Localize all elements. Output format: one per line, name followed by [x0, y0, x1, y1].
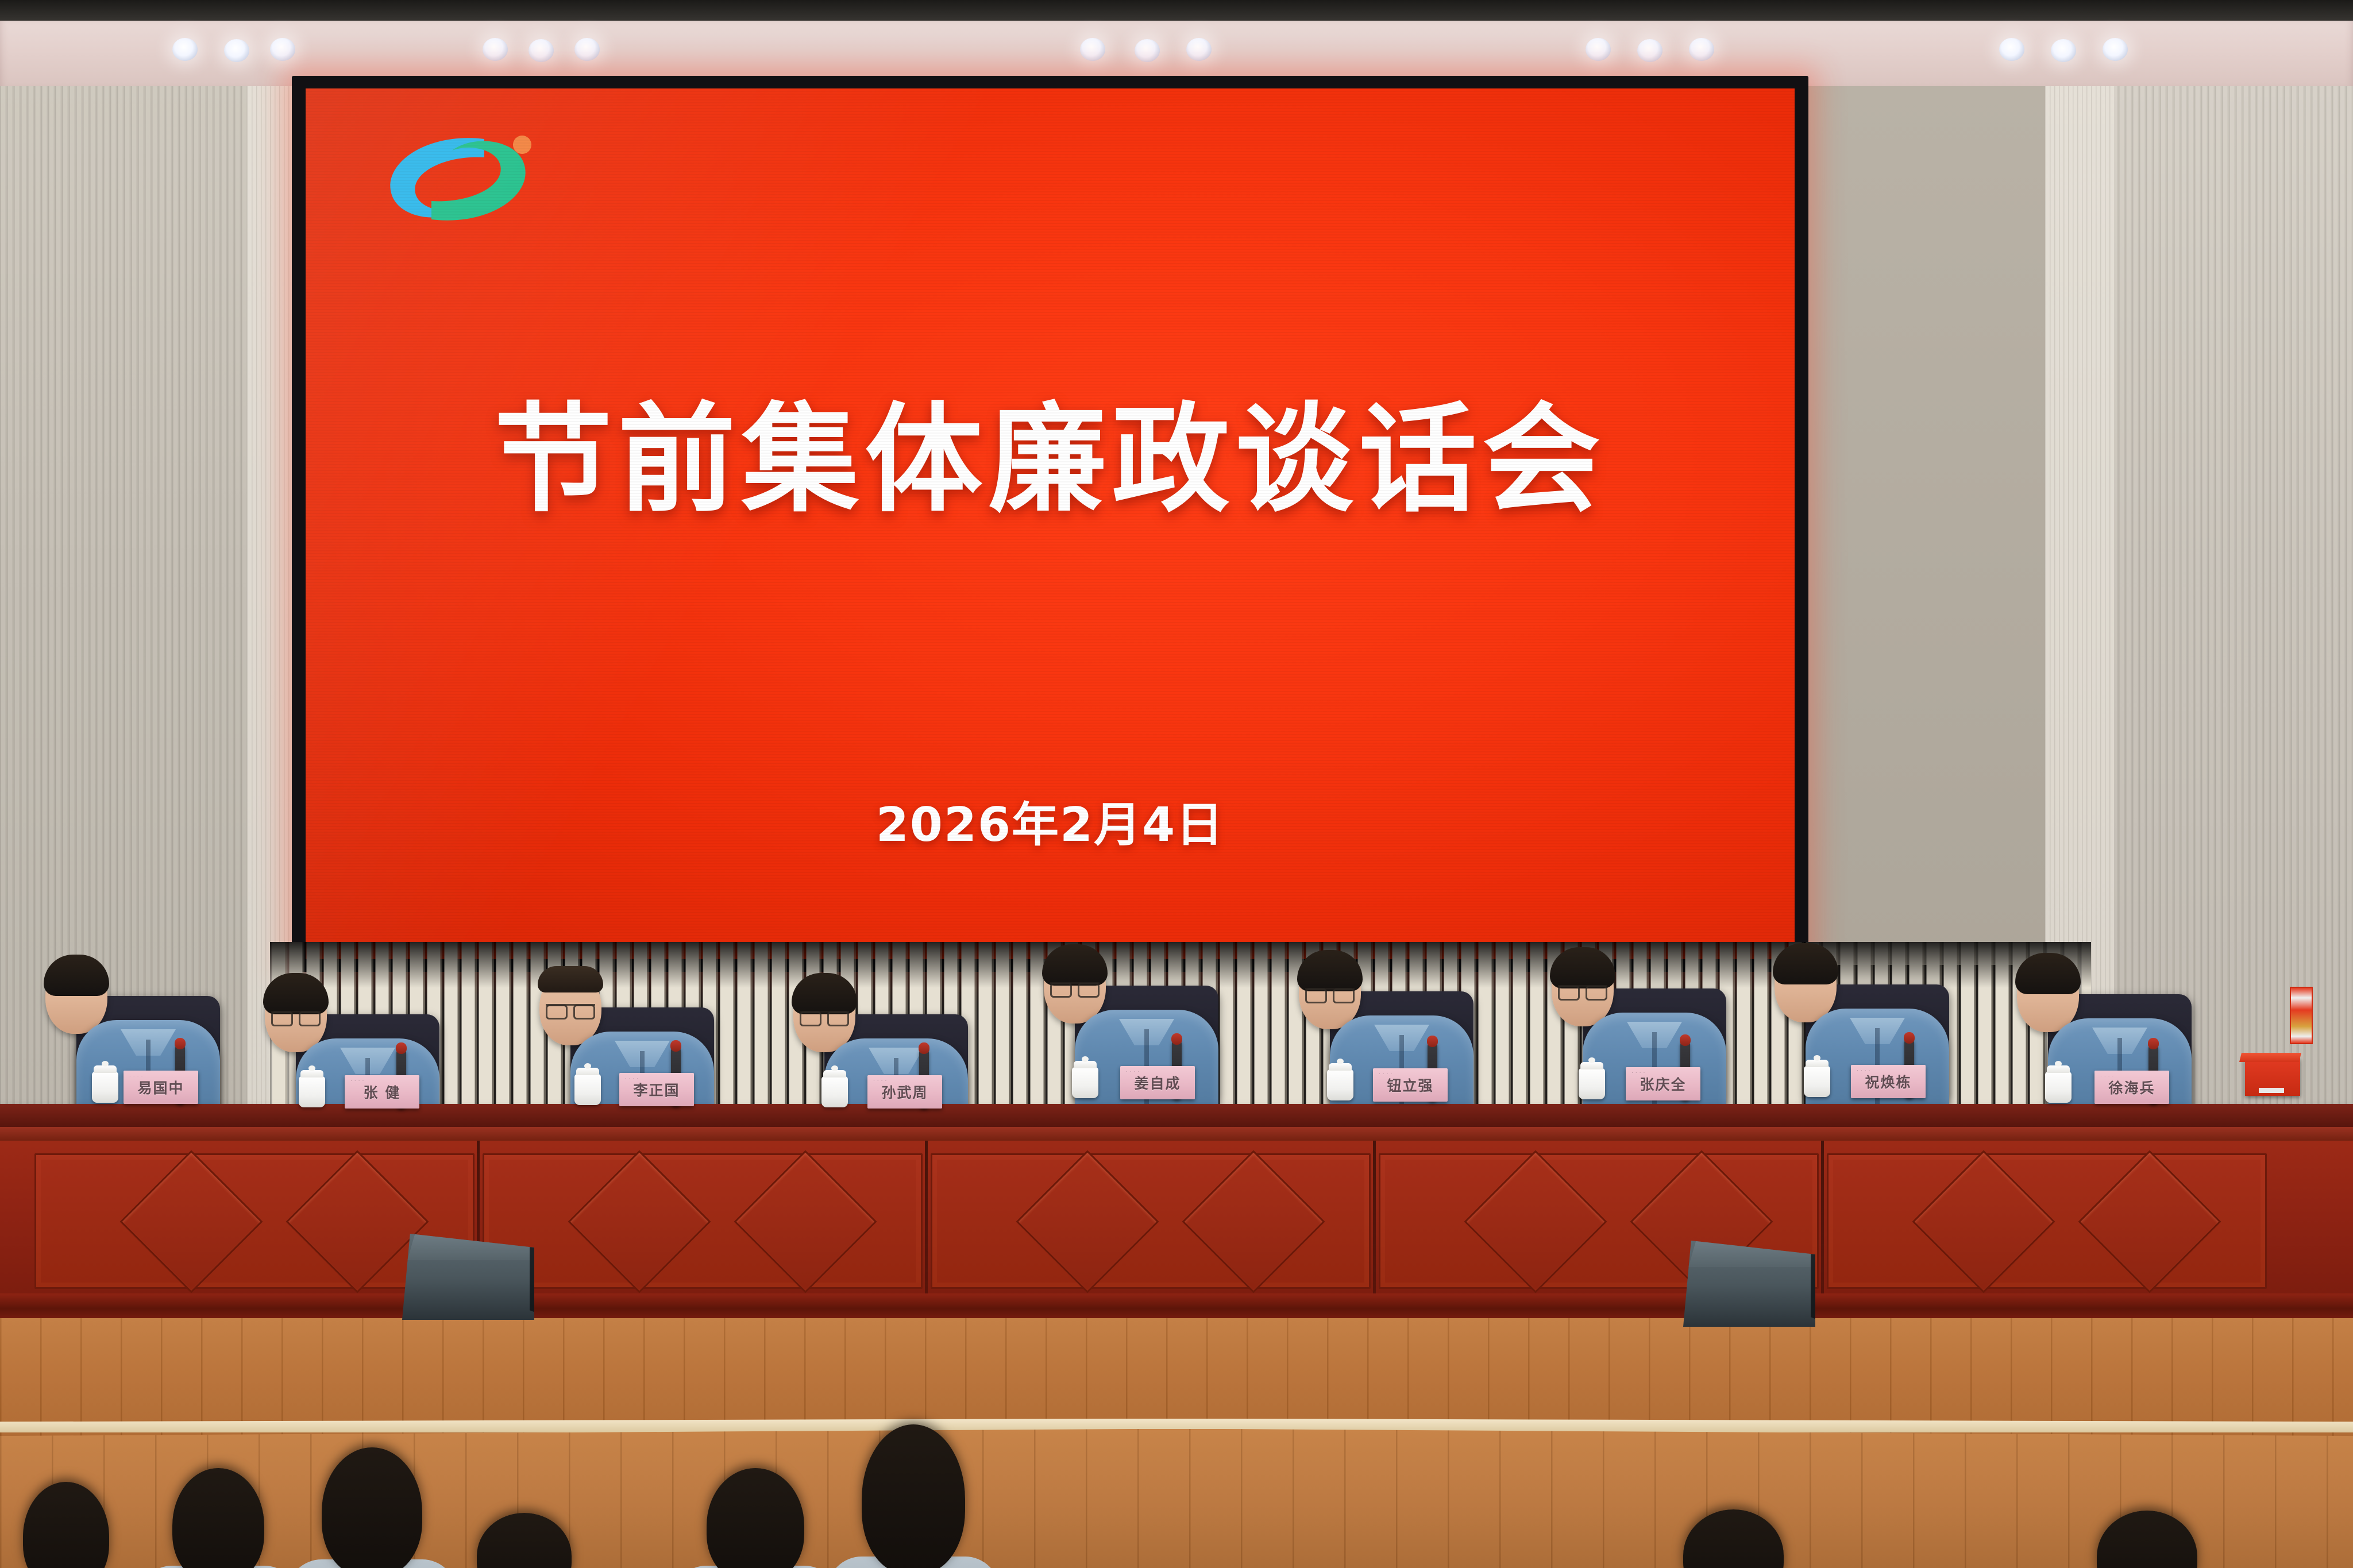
nameplate: · · · ·姜自成 [1120, 1066, 1195, 1099]
ceiling-spotlight [2103, 38, 2128, 61]
glasses-icon [1558, 985, 1607, 998]
uniform-collar [340, 1048, 395, 1074]
nameplate: · · · ·李正国 [619, 1073, 694, 1106]
nameplate-label: 易国中 [137, 1077, 184, 1098]
uniform-collar [2092, 1028, 2147, 1054]
nameplate: · · · ·孙武周 [867, 1075, 942, 1109]
ceiling-spotlight [1186, 38, 1212, 61]
fire-safety-poster [2290, 987, 2313, 1044]
screen-date: 2026年2月4日 [306, 786, 1795, 855]
table-front-panel [931, 1153, 1371, 1289]
uniform-collar [1850, 1018, 1905, 1044]
nameplate-header-mark: · · · · [350, 1078, 364, 1083]
nameplate: · · · ·张 健 [345, 1075, 419, 1109]
conference-hall-photo: 节前集体廉政谈话会 2026年2月4日 · · · ·易国中· · · ·张 健… [0, 0, 2353, 1568]
panel-diamond-motif [1182, 1150, 1325, 1293]
uniform-collar [121, 1029, 176, 1056]
uniform-collar [1374, 1025, 1429, 1051]
panel-diamond-motif [734, 1150, 877, 1293]
nameplate-label: 姜自成 [1134, 1072, 1181, 1093]
glasses-icon [1305, 988, 1355, 1001]
official-head [1299, 953, 1361, 1029]
panel-diamond-motif [2078, 1150, 2221, 1293]
tea-cup [92, 1072, 118, 1103]
fire-equipment-box [2245, 1058, 2300, 1096]
nameplate-label: 张 健 [364, 1082, 401, 1102]
official-head [1775, 947, 1837, 1022]
ceiling-spotlight [529, 39, 554, 62]
glasses-icon [800, 1011, 849, 1024]
tea-cup [1804, 1066, 1830, 1097]
nameplate: · · · ·祝焕栋 [1851, 1065, 1926, 1098]
tea-cup [2045, 1072, 2072, 1103]
audience-head [322, 1447, 422, 1568]
panel-diamond-motif [1464, 1150, 1607, 1293]
ceiling-spotlight [1135, 39, 1160, 62]
floor-monitor-speaker-right [1683, 1241, 1815, 1327]
uniform-collar [1119, 1019, 1174, 1045]
uniform-collar [615, 1041, 670, 1067]
company-swirl-logo-icon [372, 122, 544, 237]
nameplate-label: 孙武周 [881, 1082, 928, 1102]
tea-cup [574, 1074, 601, 1105]
nameplate-label: 李正国 [633, 1079, 680, 1100]
ceiling-spotlight [2051, 39, 2076, 62]
nameplate: · · · ·钮立强 [1373, 1068, 1448, 1102]
nameplate: · · · ·易国中 [124, 1071, 198, 1104]
panel-diamond-motif [1016, 1150, 1159, 1293]
floor-monitor-speaker-left [402, 1234, 534, 1320]
audience-head [862, 1424, 965, 1568]
uniform-collar [1627, 1022, 1682, 1048]
nameplate: · · · ·徐海兵 [2094, 1071, 2169, 1104]
panel-diamond-motif [568, 1150, 711, 1293]
ceiling-spotlight [172, 38, 198, 61]
tea-cup [299, 1076, 325, 1107]
ceiling-spotlight [483, 38, 508, 61]
tea-cup [1579, 1068, 1605, 1099]
glasses-icon [1050, 982, 1100, 995]
official-head [265, 976, 327, 1052]
glasses-icon [546, 1004, 595, 1017]
tea-cup [1327, 1069, 1353, 1100]
hair [538, 966, 603, 992]
nameplate-label: 张庆全 [1640, 1073, 1686, 1094]
official-head [1552, 951, 1614, 1026]
table-front-panel [1827, 1153, 2267, 1289]
nameplate-label: 徐海兵 [2108, 1077, 2155, 1098]
ceiling-spotlight [224, 39, 249, 62]
ceiling-spotlight [270, 38, 295, 61]
ceiling-spotlight [1689, 38, 1714, 61]
nameplate: · · · ·张庆全 [1626, 1067, 1700, 1100]
led-screen: 节前集体廉政谈话会 2026年2月4日 [306, 88, 1795, 959]
ceiling-spotlight [1080, 38, 1105, 61]
ceiling-spotlight [574, 38, 600, 61]
official-head [539, 970, 601, 1045]
official-head [1044, 948, 1106, 1024]
official-head [45, 958, 107, 1034]
head-table-lip [0, 1127, 2353, 1142]
ceiling-spotlight [1586, 38, 1611, 61]
ceiling-spotlight [1637, 39, 1662, 62]
led-screen-frame: 节前集体廉政谈话会 2026年2月4日 [292, 76, 1808, 972]
table-front-panel [483, 1153, 923, 1289]
tea-cup [1072, 1067, 1098, 1098]
official-head [2017, 956, 2079, 1032]
ceiling-spotlight [1999, 38, 2024, 61]
head-table-base [0, 1293, 2353, 1321]
uniform-collar [869, 1048, 924, 1074]
tea-cup [821, 1076, 848, 1107]
panel-diamond-motif [1912, 1150, 2055, 1293]
screen-title: 节前集体廉政谈话会 [306, 364, 1795, 535]
glasses-icon [271, 1011, 321, 1024]
nameplate-label: 祝焕栋 [1865, 1071, 1911, 1092]
panel-diamond-motif [120, 1150, 263, 1293]
nameplate-label: 钮立强 [1387, 1075, 1433, 1095]
official-head [793, 976, 855, 1052]
